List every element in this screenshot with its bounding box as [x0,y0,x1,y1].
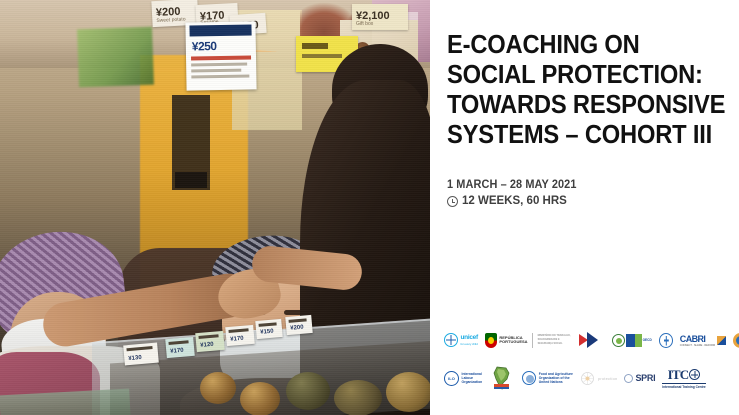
ilo-emblem-icon [444,371,459,386]
cabri-tagline: CONNECT · SHARE · REFORM [680,344,715,347]
unicef-globe-icon [444,333,458,347]
cabri-logo: CABRI CONNECT · SHARE · REFORM [680,334,727,347]
rp-line2: PORTUGUESA [499,340,527,344]
partner-logos: unicef for every child REPÚBLICA PORTUGU… [444,325,736,393]
unicef-logo-tagline: for every child [461,342,478,346]
photo-food-item [334,380,382,415]
oecd-flag-icon [626,334,642,347]
spri-logo: SPRI [624,373,655,383]
issa-logo: issa [733,333,739,348]
ilo-line3: Organization [462,380,483,384]
portugal-shield-icon [485,333,497,348]
title-line-3: TOWARDS RESPONSIVE [447,90,712,120]
unicef-logo-label: unicef [461,334,478,341]
arrow-blue-icon [587,332,598,348]
oecd-globe-icon [612,334,625,347]
itc-logo: ITC International Training Centre [662,367,705,389]
cabri-label: CABRI [680,334,715,344]
fao-line3: United Nations [539,380,573,384]
title-line-4: SYSTEMS – COHORT III [447,120,712,150]
oecd-logo: OECD [612,334,652,347]
case-price-tag: ¥200 [285,315,312,335]
course-meta: 1 MARCH – 28 MAY 2021 12 WEEKS, 60 HRS [447,179,583,207]
info-panel: E-COACHING ON SOCIAL PROTECTION: TOWARDS… [430,0,739,415]
partner-logo-row-2: International Labour Organization [444,363,736,393]
africa-map-icon [489,365,515,391]
photo-chestnut-price-card: ¥250 [185,21,256,90]
photo-food-item [200,372,236,404]
issa-emblem-icon [733,333,739,348]
ilo-logo: International Labour Organization [444,371,482,386]
logo-divider [532,333,533,348]
title-line-2: SOCIAL PROTECTION: [447,60,712,90]
poster: ¥200 Sweet potato ¥170 Sesame ¥150 ¥2,10… [0,0,739,415]
fao-logo: Food and Agriculture Organization of the… [522,371,573,385]
photo-food-item [240,382,280,415]
socialprotection-org-logo: protection [580,371,618,386]
arrow-mark-logo [579,332,605,348]
unicef-logo: unicef for every child [444,333,478,347]
oecd-label: OECD [643,338,652,342]
who-emblem-icon [659,333,673,348]
socialprotection-label: protection [598,376,618,381]
price-sign: ¥2,100 Gift box [352,4,408,30]
market-photo: ¥200 Sweet potato ¥170 Sesame ¥150 ¥2,10… [0,0,430,415]
spri-circle-icon [624,374,633,383]
case-price-tag: ¥130 [123,343,159,366]
itc-globe-icon [689,369,700,380]
republica-portuguesa-logo: REPÚBLICA PORTUGUESA MINISTÉRIO DO TRABA… [485,333,572,348]
itc-sublabel: International Training Centre [662,383,705,389]
case-price-tag: ¥170 [225,325,255,346]
case-price-tag: ¥120 [195,331,225,352]
course-duration-label: 12 WEEKS, 60 HRS [462,195,567,207]
rp-ministry-label: MINISTÉRIO DO TRABALHO, SOLIDARIEDADE E … [538,334,572,347]
partner-logo-row-1: unicef for every child REPÚBLICA PORTUGU… [444,325,736,355]
photo-dark-label [175,172,207,188]
course-duration: 12 WEEKS, 60 HRS [447,195,583,207]
fao-emblem-icon [522,371,536,385]
cabri-square-icon [717,336,726,345]
course-dates: 1 MARCH – 28 MAY 2021 [447,179,577,191]
photo-food-item [286,372,330,410]
title-line-1: E-COACHING ON [447,30,712,60]
clock-icon [447,196,458,207]
page-title: E-COACHING ON SOCIAL PROTECTION: TOWARDS… [447,30,712,150]
case-price-tag: ¥170 [165,337,195,358]
itc-label: ITC [668,367,689,383]
spri-label: SPRI [635,373,655,383]
photo-food-item [386,372,430,412]
case-price-tag: ¥150 [255,319,282,339]
socialprotection-web-icon [580,371,595,386]
